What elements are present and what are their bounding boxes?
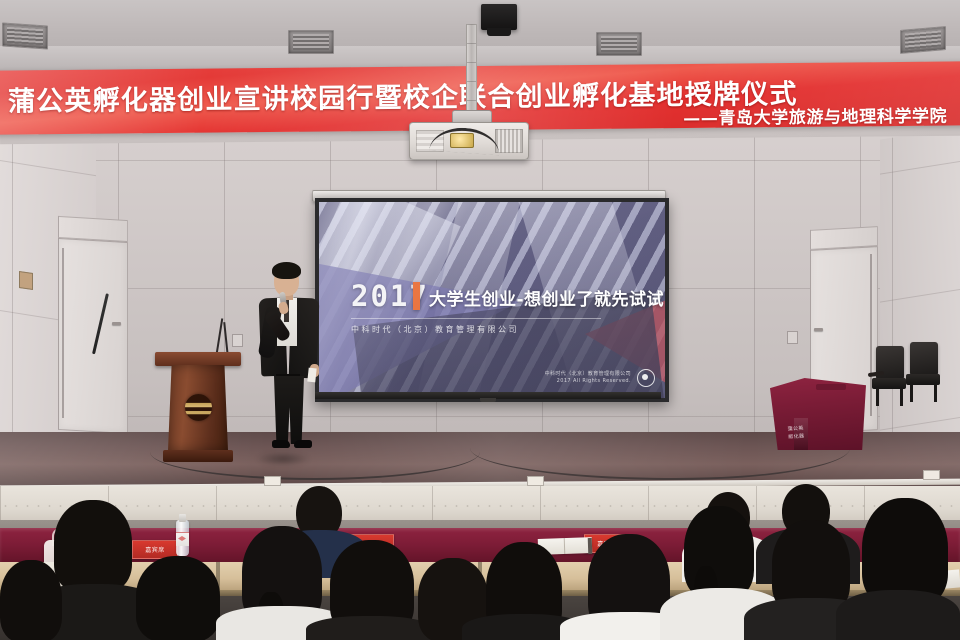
door-handle-icon[interactable]: [814, 328, 823, 331]
presenter-shoe: [272, 440, 290, 448]
presenter-shoe: [294, 440, 312, 448]
draped-side-table: 蒲公英 孵化器: [770, 378, 866, 450]
wall-outlet-icon[interactable]: [232, 334, 243, 347]
water-bottle: [176, 512, 189, 556]
stage-chair[interactable]: [872, 346, 906, 406]
slide-copyright-line1: 中科时代（北京）教育管理有限公司: [545, 371, 631, 379]
stage-floor-outlet-icon[interactable]: [527, 476, 544, 486]
ceiling: [0, 0, 960, 72]
auditorium-photo: 蒲公英孵化器创业宣讲校园行暨校企联合创业孵化基地授牌仪式 ——青岛大学旅游与地理…: [0, 0, 960, 640]
slide-divider: [351, 318, 601, 319]
wall-outlet-icon[interactable]: [787, 331, 798, 344]
wall-plaque: [19, 271, 33, 290]
bottle-cap: [179, 514, 186, 522]
chair-leg: [876, 388, 879, 406]
chair-leg: [900, 388, 903, 406]
ceiling-vent-icon: [2, 22, 48, 49]
presenter-hair: [272, 262, 301, 279]
left-door[interactable]: [58, 238, 128, 434]
chair-backrest: [910, 342, 938, 376]
audience-head: [54, 500, 132, 592]
chair-leg: [934, 384, 937, 402]
ceiling-vent-icon: [596, 32, 642, 56]
audience-shoulders: [306, 616, 434, 640]
projection-screen: 2017 大学生创业-想创业了就先试试 中科时代（北京）教育管理有限公司 中科时…: [315, 198, 669, 402]
screen-pull-tab[interactable]: [480, 398, 496, 402]
projector-grille-icon: [495, 129, 523, 153]
audience-head: [136, 556, 220, 640]
slide-content: 2017 大学生创业-想创业了就先试试 中科时代（北京）教育管理有限公司 中科时…: [319, 202, 665, 398]
presenter: [252, 258, 328, 454]
circle-logo-icon: [637, 369, 655, 387]
podium-desktop: [155, 352, 241, 366]
ceiling-vent-icon: [900, 26, 946, 54]
speaker-floor-reflection: [256, 452, 310, 466]
door-handle-icon[interactable]: [112, 322, 121, 325]
table-cloth-text: 蒲公英 孵化器: [787, 425, 804, 441]
ceiling-vent-icon: [288, 30, 334, 54]
notebook-spine: [588, 538, 593, 554]
audience-shoulders: [836, 590, 960, 640]
banner-sub-text: ——青岛大学旅游与地理科学学院: [683, 102, 947, 130]
ceiling-junction-box: [481, 4, 517, 30]
slide-accent-bar: [413, 282, 420, 310]
door-hinge-edge: [62, 248, 64, 418]
qingdao-university-emblem-icon: [185, 394, 212, 421]
chair-leg: [910, 384, 913, 402]
stage-floor-outlet-icon[interactable]: [264, 476, 281, 486]
slide-subtitle: 中科时代（北京）教育管理有限公司: [351, 324, 519, 335]
slide-title: 大学生创业-想创业了就先试试: [429, 285, 664, 310]
table-top-object: [816, 384, 846, 390]
stage-chair[interactable]: [906, 342, 940, 402]
podium-base: [163, 450, 233, 462]
slide-copyright-line2: 2017 All Rights Reserved.: [545, 378, 631, 386]
paper-notes: [307, 368, 316, 383]
slide-copyright: 中科时代（北京）教育管理有限公司 2017 All Rights Reserve…: [545, 371, 631, 387]
presenter-trousers: [274, 376, 304, 444]
speaker-podium: [155, 352, 241, 464]
right-wall: [880, 126, 960, 470]
stage-floor-outlet-icon[interactable]: [923, 470, 940, 480]
bottle-label: [176, 532, 189, 546]
audience-head: [0, 560, 62, 640]
wall-panel-grid: [880, 126, 960, 470]
